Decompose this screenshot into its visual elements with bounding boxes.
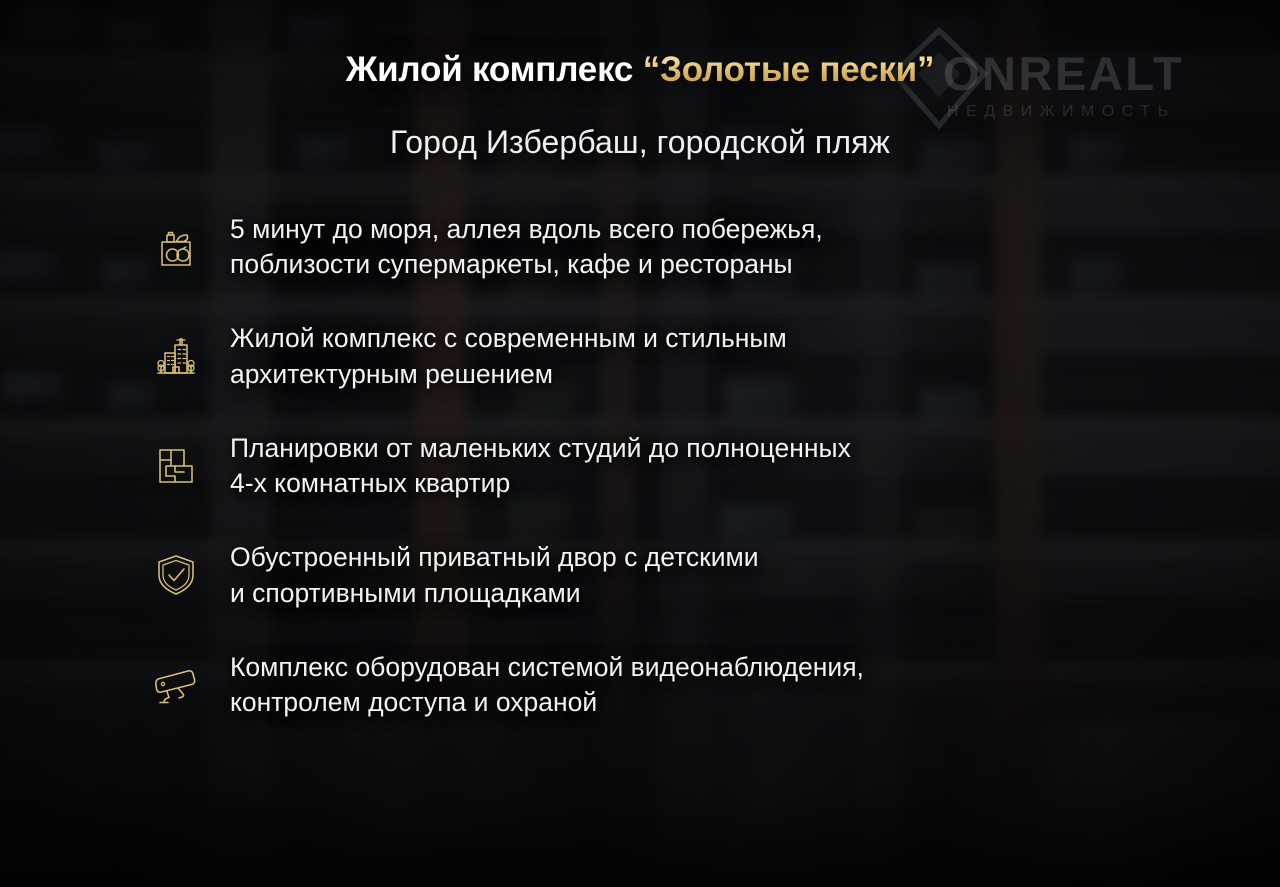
- feature-line-1: Жилой комплекс с современным и стильным: [230, 321, 787, 356]
- list-item: 5 минут до моря, аллея вдоль всего побер…: [148, 206, 1198, 282]
- list-item-text: Обустроенный приватный двор с детскими и…: [230, 534, 759, 610]
- feature-line-1: Комплекс оборудован системой видеонаблюд…: [230, 650, 864, 685]
- feature-line-2: контролем доступа и охраной: [230, 685, 864, 720]
- list-item: Комплекс оборудован системой видеонаблюд…: [148, 644, 1198, 720]
- content: Жилой комплекс “Золотые пески” Город Изб…: [0, 0, 1280, 887]
- page-subtitle: Город Избербаш, городской пляж: [0, 124, 1280, 161]
- promo-slide: ONREALT НЕДВИЖИМОСТЬ Жилой комплекс “Зол…: [0, 0, 1280, 887]
- feature-line-2: 4-х комнатных квартир: [230, 466, 851, 501]
- list-item-text: Комплекс оборудован системой видеонаблюд…: [230, 644, 864, 720]
- feature-line-1: Обустроенный приватный двор с детскими: [230, 540, 759, 575]
- city-buildings-icon: [148, 328, 204, 384]
- list-item-text: Жилой комплекс с современным и стильным …: [230, 315, 787, 391]
- feature-line-2: поблизости супермаркеты, кафе и ресторан…: [230, 247, 823, 282]
- feature-list: 5 минут до моря, аллея вдоль всего побер…: [148, 206, 1198, 720]
- shield-check-icon: [148, 547, 204, 603]
- feature-line-2: и спортивными площадками: [230, 576, 759, 611]
- list-item: Обустроенный приватный двор с детскими и…: [148, 534, 1198, 610]
- page-title: Жилой комплекс “Золотые пески”: [0, 50, 1280, 90]
- list-item-text: Планировки от маленьких студий до полноц…: [230, 425, 851, 501]
- grocery-bag-icon: [148, 219, 204, 275]
- feature-line-1: 5 минут до моря, аллея вдоль всего побер…: [230, 212, 823, 247]
- cctv-camera-icon: [148, 657, 204, 713]
- title-main: Жилой комплекс: [346, 50, 643, 89]
- feature-line-2: архитектурным решением: [230, 357, 787, 392]
- list-item: Жилой комплекс с современным и стильным …: [148, 315, 1198, 391]
- list-item: Планировки от маленьких студий до полноц…: [148, 425, 1198, 501]
- feature-line-1: Планировки от маленьких студий до полноц…: [230, 431, 851, 466]
- floor-plan-icon: [148, 438, 204, 494]
- title-highlight: “Золотые пески”: [643, 50, 935, 89]
- list-item-text: 5 минут до моря, аллея вдоль всего побер…: [230, 206, 823, 282]
